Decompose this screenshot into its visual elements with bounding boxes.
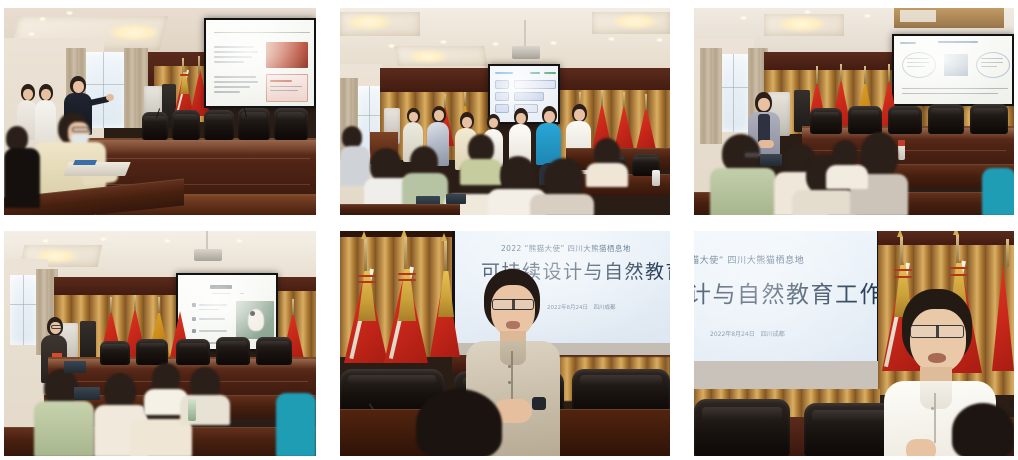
photo-speaker-pointing-at-screen[interactable] [4, 8, 316, 215]
wristwatch [532, 397, 546, 410]
projector [194, 249, 222, 261]
photo-wide-room-with-contents-slide[interactable] [4, 231, 316, 456]
photo-grid: 2022 “熊猫大使” 四川大熊猫栖息地 可持续设计与自然教育工作坊 2022年… [0, 0, 1018, 460]
projector-screen [892, 34, 1014, 106]
photo-woman-presenting[interactable] [694, 8, 1014, 215]
photo-group-presentation[interactable] [340, 8, 670, 215]
photo-presenter-closeup-title-slide[interactable]: 猫大使” 四川大熊猫栖息地 计与自然教育工作坊 2022年8月24日 四川成都 [694, 231, 1014, 456]
photo-presenter-with-title-slide[interactable]: 2022 “熊猫大使” 四川大熊猫栖息地 可持续设计与自然教育工作坊 2022年… [340, 231, 670, 456]
projector-screen [204, 18, 316, 108]
projector [512, 46, 540, 59]
